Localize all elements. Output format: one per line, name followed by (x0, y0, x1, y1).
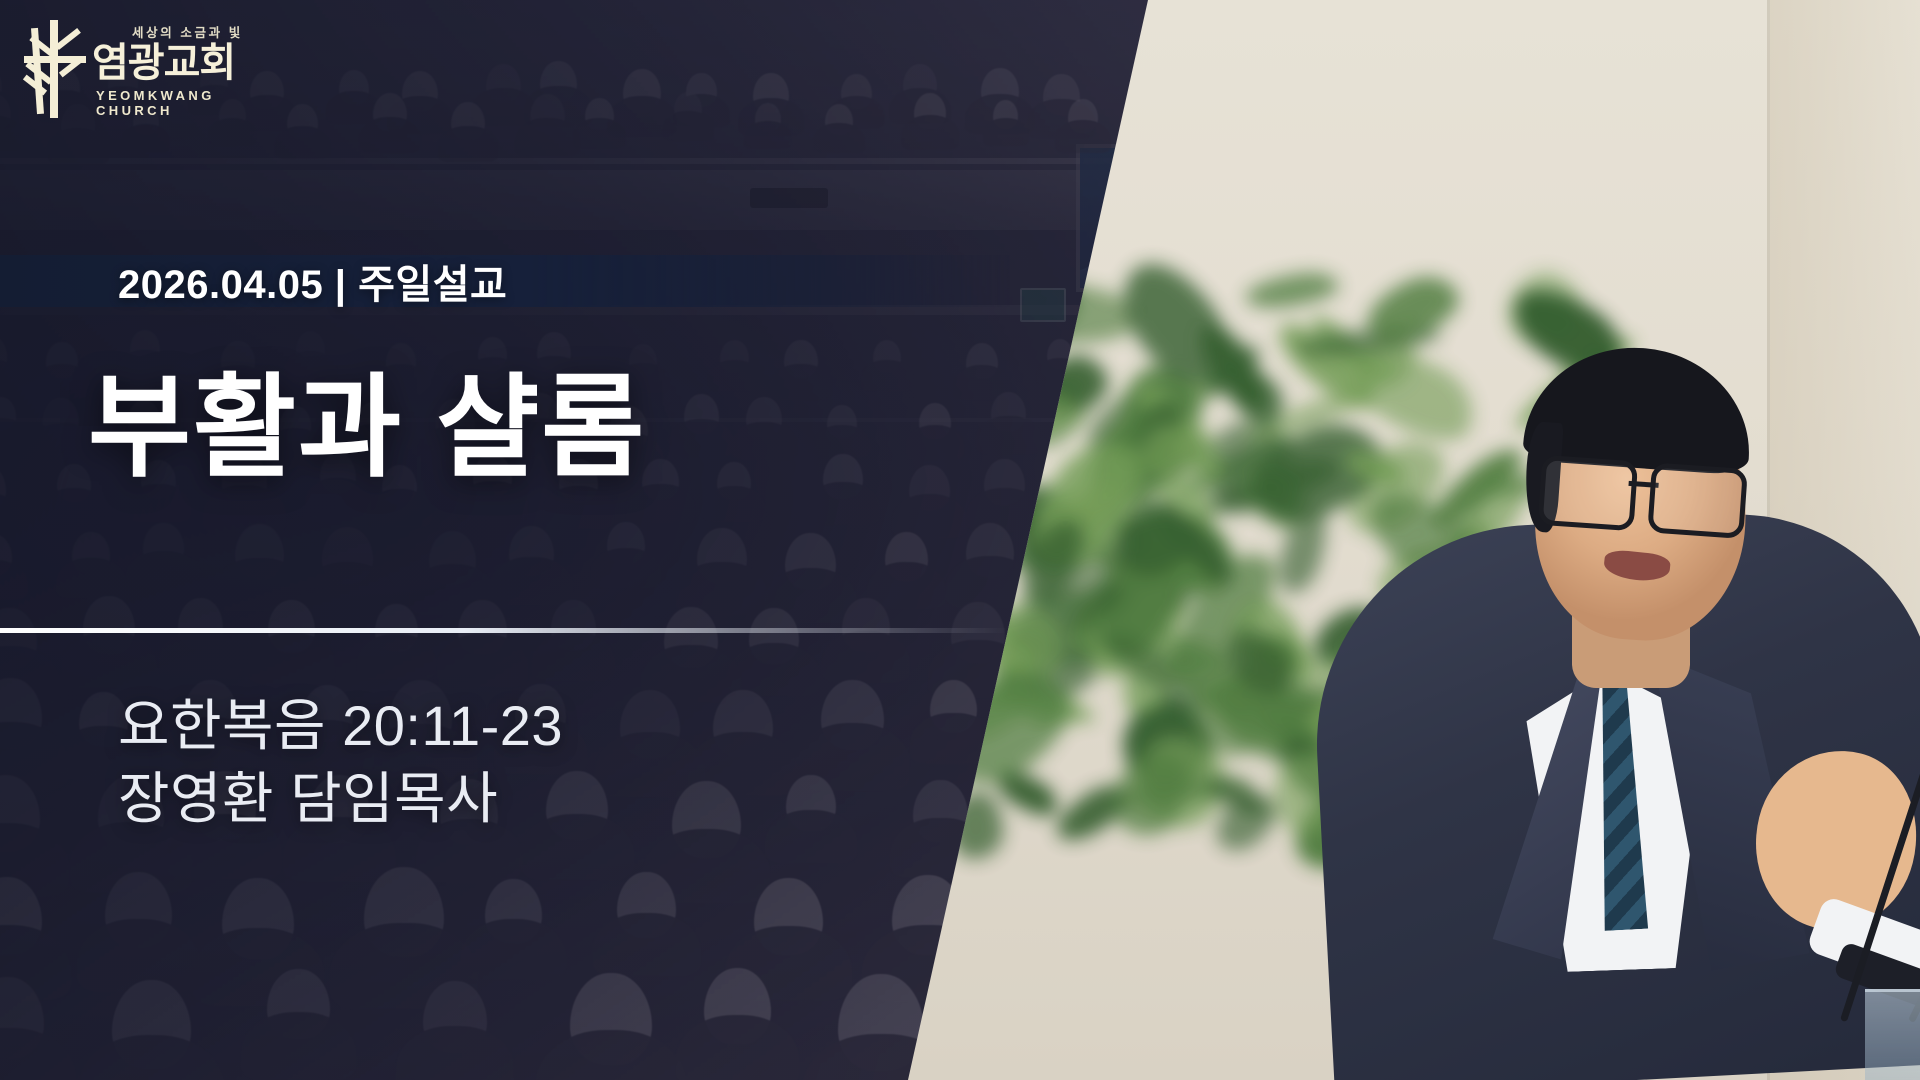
logo-wordmark: 세상의 소금과 빛 염광교회 YEOMKWANG CHURCH (92, 22, 248, 118)
logo-tagline: 세상의 소금과 빛 (132, 22, 248, 41)
sermon-title: 부활과 샬롬 (88, 368, 988, 489)
divider-line (0, 628, 1010, 633)
pastor-figure (1200, 220, 1920, 1080)
church-logo: 세상의 소금과 빛 염광교회 YEOMKWANG CHURCH (18, 14, 248, 124)
cross-wheat-logo-icon (18, 14, 92, 118)
sermon-slide: 세상의 소금과 빛 염광교회 YEOMKWANG CHURCH 2026.04.… (0, 0, 1920, 1080)
pulpit (1865, 989, 1920, 1080)
date-banner: 2026.04.05 | 주일설교 (0, 255, 1010, 307)
sermon-scripture: 요한복음 20:11-23 (118, 690, 1018, 763)
sermon-meta: 요한복음 20:11-23 장영환 담임목사 (118, 690, 1018, 836)
sermon-speaker: 장영환 담임목사 (118, 763, 1018, 836)
date-banner-text: 2026.04.05 | 주일설교 (118, 252, 507, 310)
logo-name-en: YEOMKWANG CHURCH (96, 88, 248, 118)
logo-name-ko: 염광교회 (92, 43, 248, 83)
